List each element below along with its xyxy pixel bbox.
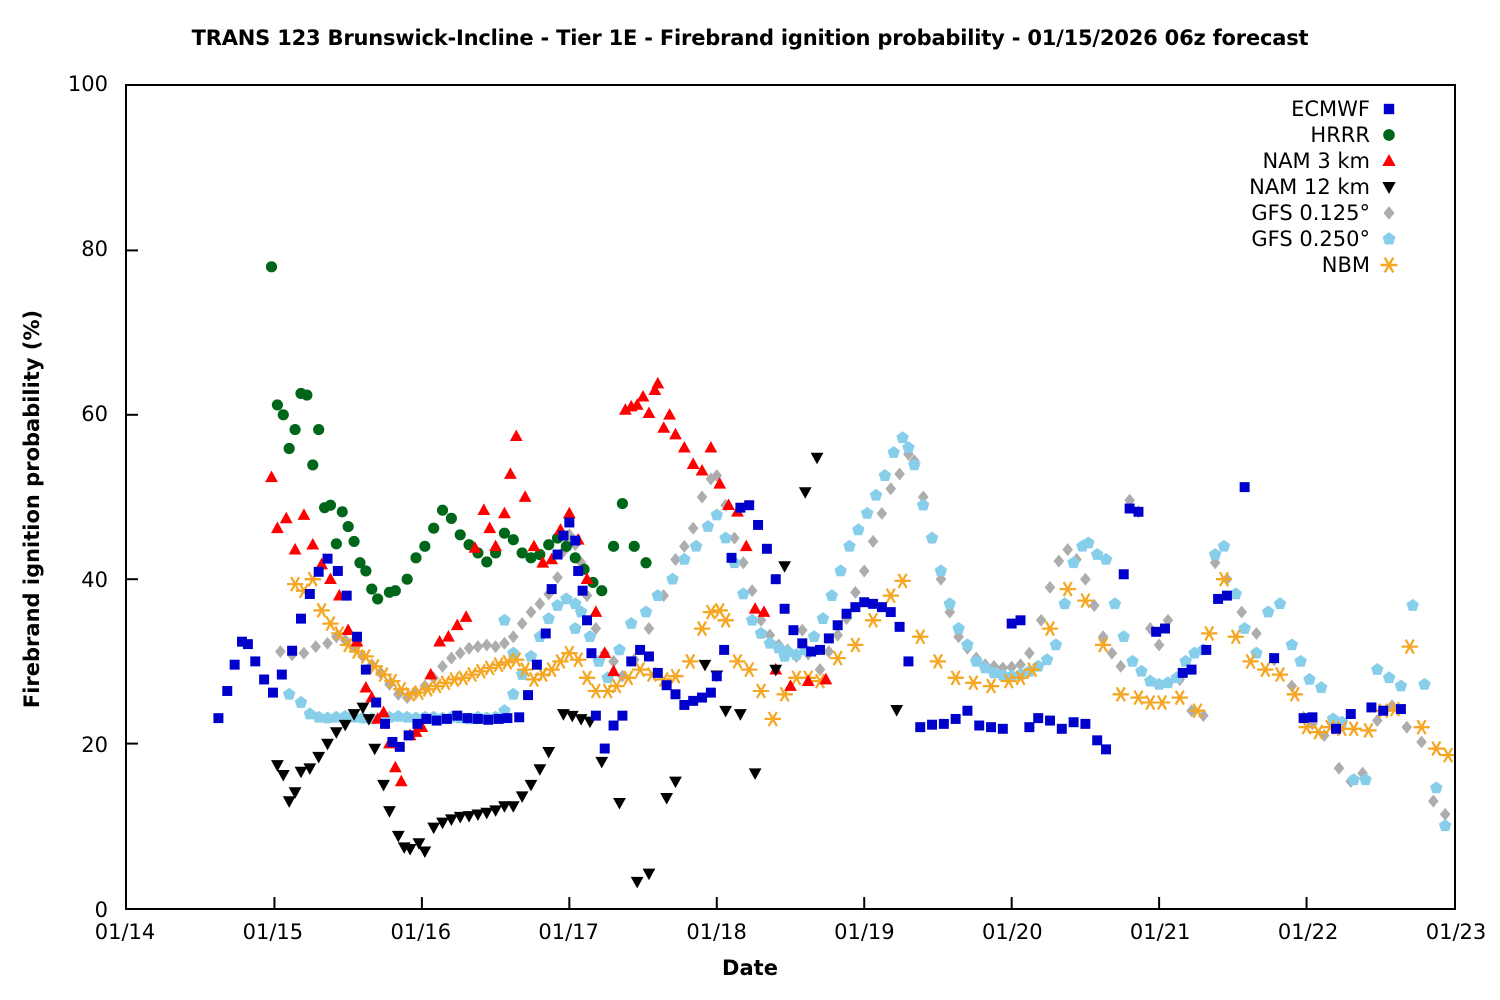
data-point xyxy=(688,696,698,706)
data-point xyxy=(1045,581,1056,594)
x-axis-title: Date xyxy=(0,956,1500,980)
data-point xyxy=(481,556,492,567)
data-point xyxy=(280,512,293,524)
data-point xyxy=(939,719,949,729)
data-point xyxy=(295,696,308,708)
data-point xyxy=(1054,555,1065,568)
data-point xyxy=(541,628,551,638)
data-point xyxy=(895,622,905,632)
data-point xyxy=(712,671,722,681)
data-point xyxy=(452,711,462,721)
data-point xyxy=(769,665,782,677)
data-point xyxy=(734,709,747,721)
data-point xyxy=(265,471,278,483)
data-point xyxy=(930,654,946,668)
data-point xyxy=(482,661,498,675)
data-point xyxy=(1286,638,1299,650)
data-point xyxy=(657,421,670,433)
data-point xyxy=(780,604,790,614)
data-point xyxy=(609,721,619,731)
data-point xyxy=(290,424,301,435)
data-point xyxy=(532,660,542,670)
data-point xyxy=(1135,665,1148,677)
data-point xyxy=(617,498,628,509)
data-point xyxy=(1416,735,1427,748)
data-point xyxy=(360,565,371,576)
data-point xyxy=(711,509,724,521)
data-point xyxy=(552,571,563,584)
data-point xyxy=(896,431,909,443)
data-point xyxy=(442,630,455,642)
data-point xyxy=(1213,594,1223,604)
legend-item-ecmwf[interactable]: ECMWF xyxy=(1196,96,1408,122)
data-point xyxy=(563,507,576,519)
data-point xyxy=(1413,720,1429,734)
data-point xyxy=(543,539,554,550)
data-point xyxy=(295,767,308,779)
data-point xyxy=(455,529,466,540)
data-point xyxy=(1346,722,1362,736)
data-point xyxy=(250,656,260,666)
legend-item-nbm[interactable]: NBM xyxy=(1196,252,1408,278)
data-point xyxy=(669,428,682,440)
data-point xyxy=(679,540,690,553)
data-point xyxy=(887,446,900,458)
data-point xyxy=(464,642,475,655)
data-point xyxy=(372,593,383,604)
data-point xyxy=(1092,735,1102,745)
data-point xyxy=(1236,606,1247,619)
data-point xyxy=(483,715,493,725)
data-point xyxy=(662,680,672,690)
data-point xyxy=(877,602,887,612)
data-point xyxy=(811,453,824,465)
data-point xyxy=(935,564,948,576)
data-point xyxy=(694,622,710,636)
legend-label: NBM xyxy=(1322,253,1370,277)
legend-marker-asterisk-icon xyxy=(1370,252,1408,278)
data-point xyxy=(342,591,352,601)
data-point xyxy=(613,643,626,655)
data-point xyxy=(481,638,492,651)
data-point xyxy=(952,622,965,634)
data-point xyxy=(842,609,852,619)
data-point xyxy=(582,615,592,625)
data-point xyxy=(755,627,768,639)
data-point xyxy=(1299,713,1309,723)
legend-label: NAM 12 km xyxy=(1249,175,1370,199)
data-point xyxy=(600,744,610,754)
data-point xyxy=(502,713,512,723)
data-point xyxy=(718,613,734,627)
data-point xyxy=(687,457,700,469)
data-point xyxy=(1045,716,1055,726)
data-point xyxy=(850,602,860,612)
data-point xyxy=(498,507,511,519)
data-point xyxy=(1187,665,1197,675)
data-point xyxy=(771,574,781,584)
data-point xyxy=(741,663,757,677)
data-point xyxy=(1428,742,1444,756)
data-point xyxy=(507,801,520,813)
y-tick-label: 100 xyxy=(8,72,108,96)
data-point xyxy=(1274,597,1287,609)
data-point xyxy=(514,712,524,722)
data-point xyxy=(404,730,414,740)
data-point xyxy=(679,700,689,710)
data-point xyxy=(508,630,519,643)
data-point xyxy=(510,429,523,441)
data-point xyxy=(879,469,892,481)
legend-item-nam-12-km[interactable]: NAM 12 km xyxy=(1196,174,1408,200)
legend-item-nam-3-km[interactable]: NAM 3 km xyxy=(1196,148,1408,174)
data-point xyxy=(419,541,430,552)
data-point xyxy=(850,586,861,599)
data-point xyxy=(613,798,626,810)
data-point xyxy=(523,690,533,700)
x-tick-label: 01/16 xyxy=(361,920,481,944)
data-point xyxy=(389,761,402,773)
data-point xyxy=(1402,640,1418,654)
data-point xyxy=(1080,573,1091,586)
data-point xyxy=(704,441,717,453)
data-point xyxy=(586,648,596,658)
data-point xyxy=(272,399,283,410)
data-point xyxy=(1160,624,1170,634)
data-point xyxy=(570,653,586,667)
data-point xyxy=(1024,722,1034,732)
data-point xyxy=(915,722,925,732)
data-point xyxy=(885,482,896,495)
data-point xyxy=(943,597,956,609)
data-point xyxy=(870,489,883,501)
data-point xyxy=(719,645,729,655)
data-point xyxy=(437,505,448,516)
data-point xyxy=(243,639,253,649)
data-point xyxy=(1240,482,1250,492)
data-point xyxy=(570,536,580,546)
data-point xyxy=(589,605,602,617)
data-point xyxy=(278,409,289,420)
data-point xyxy=(480,808,493,820)
data-point xyxy=(735,503,745,513)
data-point xyxy=(348,536,359,547)
data-point xyxy=(753,520,763,530)
data-point xyxy=(446,652,457,665)
data-point xyxy=(1402,721,1413,734)
data-point xyxy=(740,540,753,552)
data-point xyxy=(1216,572,1232,586)
data-point xyxy=(1360,723,1376,737)
data-point xyxy=(230,660,240,670)
data-point xyxy=(427,823,440,835)
data-point xyxy=(1115,660,1126,673)
data-point xyxy=(1418,678,1431,690)
data-point xyxy=(473,664,489,678)
data-point xyxy=(579,671,595,685)
data-point xyxy=(1107,647,1118,660)
series-gfs-0-125 xyxy=(275,448,1450,821)
data-point xyxy=(660,793,673,805)
data-point xyxy=(507,688,520,700)
data-point xyxy=(651,377,664,389)
data-point xyxy=(1125,504,1135,514)
data-point xyxy=(903,656,913,666)
data-point xyxy=(1347,773,1360,785)
data-point xyxy=(640,557,651,568)
data-point xyxy=(832,629,843,642)
data-point xyxy=(432,716,442,726)
data-point xyxy=(380,719,390,729)
data-point xyxy=(861,507,874,519)
data-point xyxy=(473,640,484,653)
data-point xyxy=(296,614,306,624)
data-point xyxy=(1172,691,1188,705)
data-point xyxy=(1154,696,1170,710)
data-point xyxy=(421,714,431,724)
data-point xyxy=(643,869,656,881)
data-point xyxy=(383,806,396,818)
data-point xyxy=(1334,762,1345,775)
data-point xyxy=(640,606,653,618)
data-point xyxy=(962,706,972,716)
data-point xyxy=(284,443,295,454)
x-tick-label: 01/14 xyxy=(65,920,185,944)
data-point xyxy=(826,589,839,601)
x-tick-label: 01/18 xyxy=(657,920,777,944)
data-point xyxy=(1119,569,1129,579)
data-point xyxy=(1133,507,1143,517)
data-point xyxy=(1383,671,1396,683)
data-point xyxy=(702,520,715,532)
data-point xyxy=(1069,717,1079,727)
data-point xyxy=(688,522,699,535)
data-point xyxy=(596,585,607,596)
data-point xyxy=(1042,622,1058,636)
data-point xyxy=(727,553,737,563)
data-point xyxy=(824,645,835,658)
data-point xyxy=(368,744,381,756)
data-point xyxy=(259,675,269,685)
data-point xyxy=(446,513,457,524)
data-point xyxy=(1315,681,1328,693)
data-point xyxy=(1406,599,1419,611)
data-point xyxy=(847,638,863,652)
data-point xyxy=(322,637,333,650)
data-point xyxy=(1016,615,1026,625)
data-point xyxy=(275,645,286,658)
data-point xyxy=(569,622,582,634)
data-point xyxy=(558,531,568,541)
data-point xyxy=(1378,706,1388,716)
data-point xyxy=(377,780,390,792)
legend-marker-triangle-up-icon xyxy=(1370,148,1408,174)
data-point xyxy=(371,698,381,708)
data-point xyxy=(974,721,984,731)
data-point xyxy=(626,656,636,666)
data-point xyxy=(886,607,896,617)
data-point xyxy=(1126,655,1139,667)
data-point xyxy=(965,676,981,690)
legend-marker-triangle-down-icon xyxy=(1370,174,1408,200)
data-point xyxy=(778,561,791,573)
series-gfs-0-250 xyxy=(283,431,1451,831)
x-tick-label: 01/22 xyxy=(1248,920,1368,944)
legend-marker-pentagon-icon xyxy=(1370,226,1408,252)
data-point xyxy=(865,613,881,627)
data-point xyxy=(271,522,284,534)
data-point xyxy=(644,651,654,661)
data-point xyxy=(652,589,665,601)
data-point xyxy=(868,535,879,548)
data-point xyxy=(631,877,644,889)
data-point xyxy=(666,573,679,585)
data-point xyxy=(799,487,812,499)
data-point xyxy=(749,768,762,780)
data-point xyxy=(437,676,453,690)
data-point xyxy=(883,589,899,603)
legend-marker-diamond-icon xyxy=(1370,200,1408,226)
data-point xyxy=(390,585,401,596)
data-point xyxy=(983,679,999,693)
data-point xyxy=(392,831,405,843)
data-point xyxy=(1151,627,1161,637)
data-point xyxy=(477,503,490,515)
data-point xyxy=(1238,622,1251,634)
data-point xyxy=(553,550,563,560)
data-point xyxy=(894,574,910,588)
data-point xyxy=(843,540,856,552)
data-point xyxy=(287,646,297,656)
data-point xyxy=(1080,719,1090,729)
data-point xyxy=(912,630,928,644)
data-point xyxy=(890,705,903,717)
data-point xyxy=(635,645,645,655)
data-point xyxy=(528,540,541,552)
x-tick-label: 01/17 xyxy=(509,920,629,944)
data-point xyxy=(455,647,466,660)
data-point xyxy=(564,518,574,528)
data-point xyxy=(1218,540,1231,552)
data-point xyxy=(1109,597,1122,609)
data-point xyxy=(283,688,296,700)
data-point xyxy=(494,714,504,724)
data-point xyxy=(663,408,676,420)
legend-label: ECMWF xyxy=(1291,97,1370,121)
data-point xyxy=(797,638,807,648)
data-point xyxy=(526,606,537,619)
data-point xyxy=(1060,582,1076,596)
data-point xyxy=(313,424,324,435)
data-point xyxy=(314,567,324,577)
data-point xyxy=(608,541,619,552)
data-point xyxy=(1287,687,1303,701)
data-point xyxy=(321,739,334,751)
data-point xyxy=(868,599,878,609)
data-point xyxy=(1154,638,1165,651)
data-point xyxy=(305,589,315,599)
data-point xyxy=(1430,781,1443,793)
data-point xyxy=(625,617,638,629)
data-point xyxy=(312,752,325,764)
data-point xyxy=(535,597,546,610)
data-point xyxy=(366,583,377,594)
data-point xyxy=(1346,709,1356,719)
data-point xyxy=(301,389,312,400)
data-point xyxy=(437,660,448,673)
data-point xyxy=(489,540,502,552)
data-point xyxy=(1058,597,1071,609)
data-point xyxy=(1440,808,1451,821)
data-point xyxy=(817,612,830,624)
data-point xyxy=(504,467,517,479)
legend-item-gfs-0-250[interactable]: GFS 0.250° xyxy=(1196,226,1408,252)
data-point xyxy=(552,654,568,668)
data-point xyxy=(473,714,483,724)
data-point xyxy=(325,500,336,511)
data-point xyxy=(706,688,716,698)
data-point xyxy=(547,584,557,594)
data-point xyxy=(678,553,691,565)
data-point xyxy=(402,574,413,585)
legend-item-hrrr[interactable]: HRRR xyxy=(1196,122,1408,148)
data-point xyxy=(951,714,961,724)
data-point xyxy=(808,630,821,642)
data-point xyxy=(498,614,511,626)
data-point xyxy=(1033,713,1043,723)
data-point xyxy=(1440,748,1454,762)
legend-item-gfs-0-125[interactable]: GFS 0.125° xyxy=(1196,200,1408,226)
data-point xyxy=(682,654,698,668)
data-point xyxy=(917,499,930,511)
data-point xyxy=(1307,712,1317,722)
data-point xyxy=(578,586,588,596)
data-point xyxy=(595,757,608,769)
data-point xyxy=(697,693,707,703)
data-point xyxy=(1036,614,1047,627)
data-point xyxy=(1041,653,1054,665)
data-point xyxy=(1294,655,1307,667)
data-point xyxy=(266,261,277,272)
data-point xyxy=(359,681,372,693)
data-point xyxy=(765,712,781,726)
data-point xyxy=(1366,702,1376,712)
data-point xyxy=(1251,627,1262,640)
data-point xyxy=(1257,663,1273,677)
data-point xyxy=(986,722,996,732)
scatter-chart: TRANS 123 Brunswick-Incline - Tier 1E - … xyxy=(0,0,1500,1000)
data-point xyxy=(213,713,223,723)
data-point xyxy=(1113,687,1129,701)
data-point xyxy=(998,724,1008,734)
chart-legend: ECMWFHRRRNAM 3 kmNAM 12 kmGFS 0.125°GFS … xyxy=(1196,96,1408,278)
data-point xyxy=(1201,645,1211,655)
data-point xyxy=(1024,647,1035,660)
data-point xyxy=(690,540,703,552)
data-point xyxy=(637,390,650,402)
data-point xyxy=(644,622,655,635)
data-point xyxy=(1098,630,1109,643)
data-point xyxy=(508,534,519,545)
x-tick-label: 01/19 xyxy=(804,920,924,944)
data-point xyxy=(314,603,330,617)
data-point xyxy=(516,791,529,803)
data-point xyxy=(463,713,473,723)
legend-label: GFS 0.250° xyxy=(1251,227,1370,251)
data-point xyxy=(412,719,422,729)
data-point xyxy=(1303,673,1316,685)
data-point xyxy=(961,638,974,650)
